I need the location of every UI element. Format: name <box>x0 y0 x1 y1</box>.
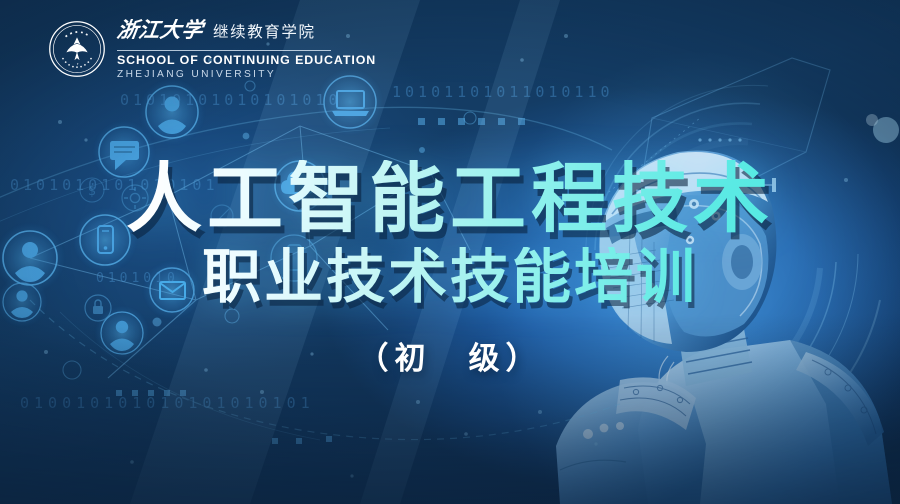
background-bottom-fade <box>0 314 900 504</box>
zhejiang-university-seal-icon <box>48 20 106 78</box>
logo-university-name-cn: 浙江大学 <box>116 20 205 41</box>
logo-chinese-line: 浙江大学 继续教育学院 <box>117 20 376 46</box>
logo-school-name-cn: 继续教育学院 <box>213 25 316 41</box>
logo-school-name-en: SCHOOL OF CONTINUING EDUCATION <box>117 54 376 68</box>
ai-training-banner: $ <box>0 0 900 504</box>
logo-text-block: 浙江大学 继续教育学院 SCHOOL OF CONTINUING EDUCATI… <box>117 18 376 81</box>
logo-university-name-en: ZHEJIANG UNIVERSITY <box>117 68 376 81</box>
logo-divider <box>117 50 331 51</box>
university-logo: 浙江大学 继续教育学院 SCHOOL OF CONTINUING EDUCATI… <box>48 18 376 81</box>
